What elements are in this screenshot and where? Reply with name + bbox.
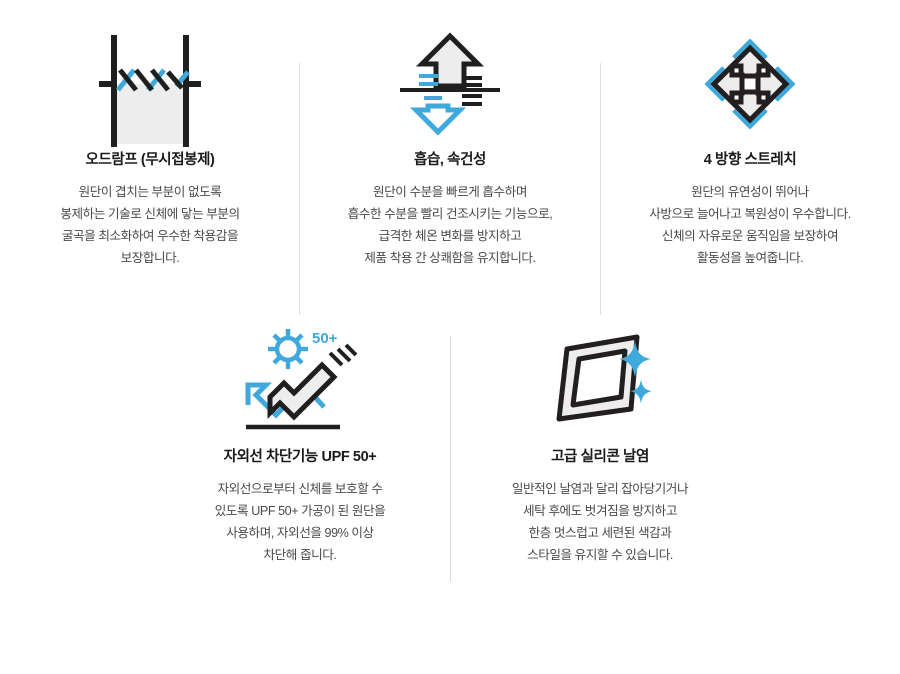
feature-title: 흡습, 속건성 <box>414 148 486 169</box>
column-divider <box>299 63 300 315</box>
feature-description: 원단이 수분을 빠르게 흡수하며 흡수한 수분을 빨리 건조시키는 기능으로, … <box>348 182 553 270</box>
feature-title: 고급 실리콘 날염 <box>551 445 649 466</box>
feature-card-seamless-bonding: 오드람프 (무시접봉제) 원단이 겹치는 부분이 없도록 봉제하는 기술로 신체… <box>0 28 300 270</box>
sun-icon <box>268 329 308 369</box>
feature-card-moisture-wicking: 흡습, 속건성 원단이 수분을 빠르게 흡수하며 흡수한 수분을 빨리 건조시키… <box>300 28 600 270</box>
feature-description: 일반적인 날염과 달리 잡아당기거나 세탁 후에도 벗겨짐을 방지하고 한층 멋… <box>512 479 688 567</box>
feature-title: 자외선 차단기능 UPF 50+ <box>224 445 377 466</box>
four-way-stretch-icon <box>698 28 802 140</box>
uv-protection-upf-icon: 50+ <box>242 325 358 437</box>
upf-badge-text: 50+ <box>312 330 338 347</box>
feature-description: 원단이 겹치는 부분이 없도록 봉제하는 기술로 신체에 닿는 부분의 굴곡을 … <box>60 182 239 270</box>
column-divider <box>450 336 451 582</box>
premium-silicone-print-icon <box>545 325 655 437</box>
feature-card-silicone-print: 고급 실리콘 날염 일반적인 날염과 달리 잡아당기거나 세탁 후에도 벗겨짐을… <box>450 325 750 567</box>
feature-row-top: 오드람프 (무시접봉제) 원단이 겹치는 부분이 없도록 봉제하는 기술로 신체… <box>0 28 900 270</box>
feature-title: 오드람프 (무시접봉제) <box>86 148 215 169</box>
seamless-bonding-icon <box>100 28 200 140</box>
feature-highlights-page: 오드람프 (무시접봉제) 원단이 겹치는 부분이 없도록 봉제하는 기술로 신체… <box>0 0 900 674</box>
column-divider <box>600 63 601 315</box>
feature-title: 4 방향 스트레치 <box>704 148 797 169</box>
feature-card-uv-protection: 50+ 자외선 차단기능 UPF 50+ 자외선 <box>150 325 450 567</box>
feature-description: 자외선으로부터 신체를 보호할 수 있도록 UPF 50+ 가공이 된 원단을 … <box>215 479 385 567</box>
feature-description: 원단의 유연성이 뛰어나 사방으로 늘어나고 복원성이 우수합니다. 신체의 자… <box>649 182 851 270</box>
moisture-wicking-quick-dry-icon <box>400 28 500 140</box>
feature-card-four-way-stretch: 4 방향 스트레치 원단의 유연성이 뛰어나 사방으로 늘어나고 복원성이 우수… <box>600 28 900 270</box>
